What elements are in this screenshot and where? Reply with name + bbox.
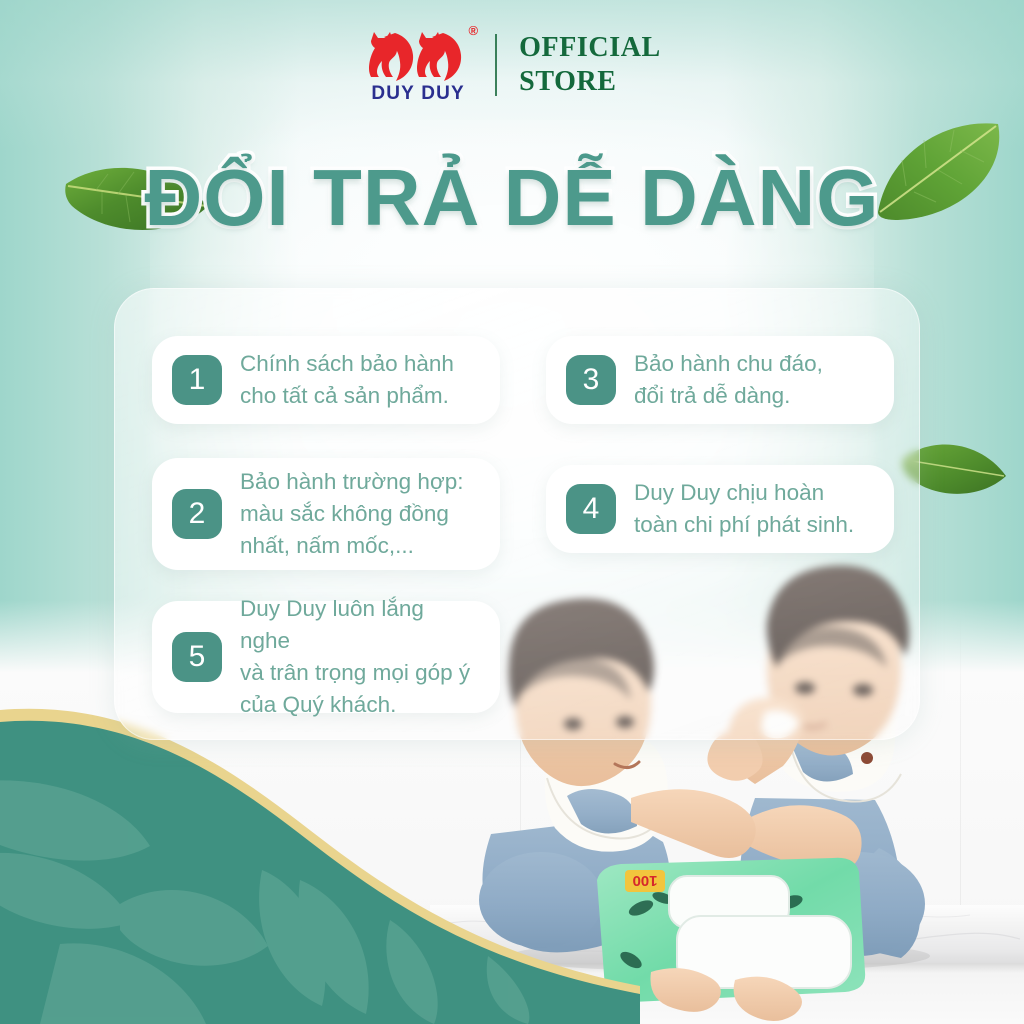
poster-canvas: 100 [0, 0, 1024, 1024]
official-store-label: OFFICIAL STORE [519, 31, 661, 99]
brand-name: DUY DUY [371, 83, 465, 105]
card-text: Duy Duy chịu hoàn toàn chi phí phát sinh… [634, 477, 854, 541]
official-line-1: OFFICIAL [519, 31, 661, 65]
card-text: Bảo hành trường hợp: màu sắc không đồng … [240, 466, 463, 562]
card-number-badge: 1 [172, 355, 222, 405]
card-text: Bảo hành chu đáo, đổi trả dễ dàng. [634, 348, 823, 412]
decorative-wave [0, 694, 640, 1024]
registered-mark-icon: ® [469, 23, 479, 38]
page-title: ĐỔI TRẢ DỄ DÀNG [0, 152, 1024, 244]
header-divider [495, 34, 497, 96]
two-red-cats-icon: ® [363, 25, 473, 81]
official-line-2: STORE [519, 65, 661, 99]
brand-logo: ® DUY DUY [363, 25, 473, 105]
policy-card-2[interactable]: 2 Bảo hành trường hợp: màu sắc không đồn… [152, 458, 500, 570]
policy-card-1[interactable]: 1 Chính sách bảo hành cho tất cả sản phẩ… [152, 336, 500, 424]
header: ® DUY DUY OFFICIAL STORE [0, 20, 1024, 110]
card-text: Chính sách bảo hành cho tất cả sản phẩm. [240, 348, 454, 412]
card-number-badge: 3 [566, 355, 616, 405]
card-number-badge: 4 [566, 484, 616, 534]
card-number-badge: 5 [172, 632, 222, 682]
policy-card-3[interactable]: 3 Bảo hành chu đáo, đổi trả dễ dàng. [546, 336, 894, 424]
policy-card-4[interactable]: 4 Duy Duy chịu hoàn toàn chi phí phát si… [546, 465, 894, 553]
card-text: Duy Duy luôn lắng nghe và trân trọng mọi… [240, 593, 478, 721]
policy-card-5[interactable]: 5 Duy Duy luôn lắng nghe và trân trọng m… [152, 601, 500, 713]
card-number-badge: 2 [172, 489, 222, 539]
